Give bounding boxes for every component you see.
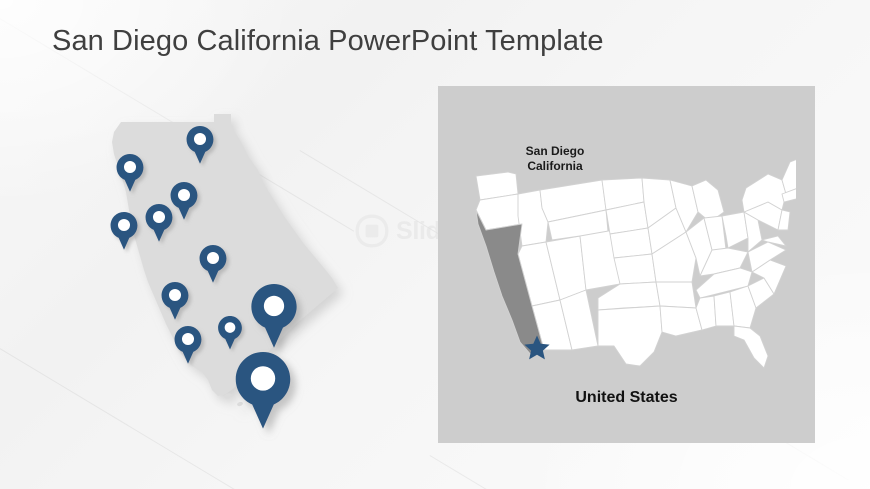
city-label-line2: California (490, 159, 620, 174)
diagonal-line (429, 455, 870, 489)
city-label-line1: San Diego (490, 144, 620, 159)
state-new-england (782, 158, 796, 194)
state-louisiana (660, 306, 702, 336)
slide-canvas: San Diego California PowerPoint Template… (0, 0, 870, 489)
state-florida (734, 326, 768, 368)
state-ohio (722, 212, 748, 248)
slidemodel-logo-icon (355, 214, 389, 248)
state-arkansas (656, 282, 696, 308)
state-michigan (692, 180, 724, 222)
city-label: San Diego California (490, 144, 620, 174)
page-title: San Diego California PowerPoint Template (52, 25, 604, 58)
location-pin (111, 212, 138, 250)
state-kansas (614, 254, 656, 284)
us-map[interactable] (456, 150, 796, 382)
united-states-panel[interactable]: San Diego California (438, 86, 815, 443)
country-label: United States (438, 389, 815, 407)
california-map[interactable] (88, 104, 348, 414)
state-texas (598, 306, 662, 366)
location-pin-san-diego (236, 352, 291, 429)
